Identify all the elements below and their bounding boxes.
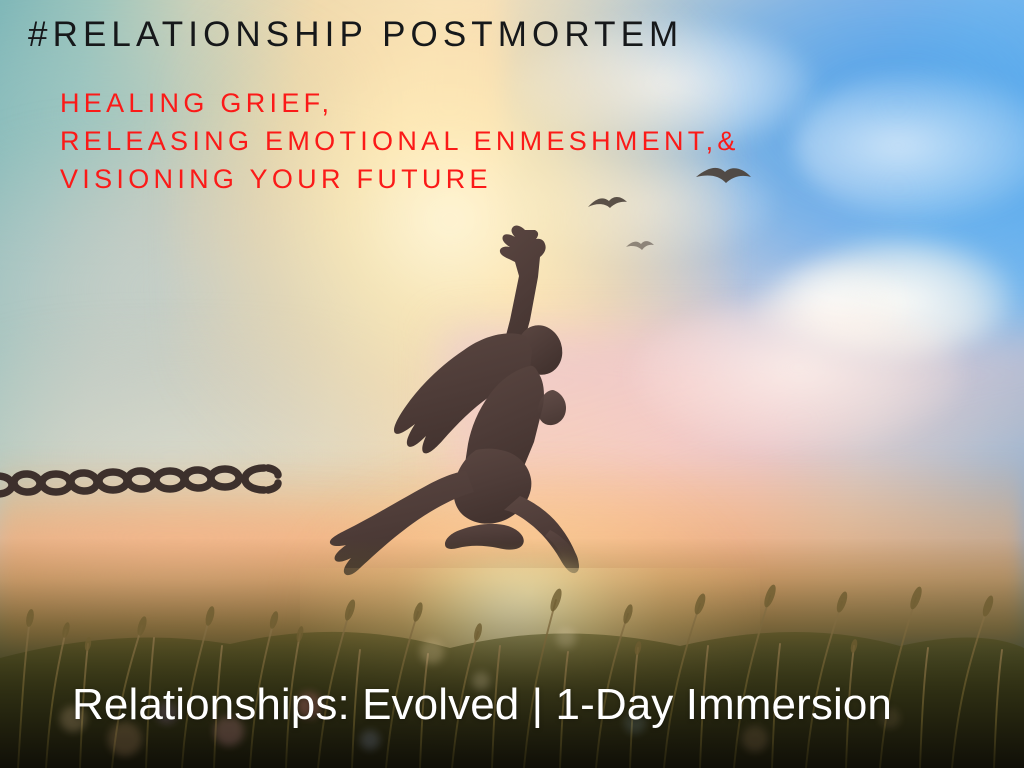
event-caption: Relationships: Evolved | 1-Day Immersion — [72, 680, 892, 730]
subtitle-line-1: HEALING GRIEF, — [60, 84, 740, 122]
promo-slide: #RELATIONSHIP POSTMORTEM HEALING GRIEF, … — [0, 0, 1024, 768]
subtitle-line-3: VISIONING YOUR FUTURE — [60, 160, 740, 198]
bokeh-dot — [420, 640, 444, 664]
bokeh-dot — [556, 628, 576, 648]
subtitle-line-2: RELEASING EMOTIONAL ENMESHMENT,& — [60, 122, 740, 160]
bokeh-dot — [360, 730, 380, 750]
subtitle-block: HEALING GRIEF, RELEASING EMOTIONAL ENMES… — [60, 84, 740, 198]
page-title: #RELATIONSHIP POSTMORTEM — [28, 12, 683, 58]
